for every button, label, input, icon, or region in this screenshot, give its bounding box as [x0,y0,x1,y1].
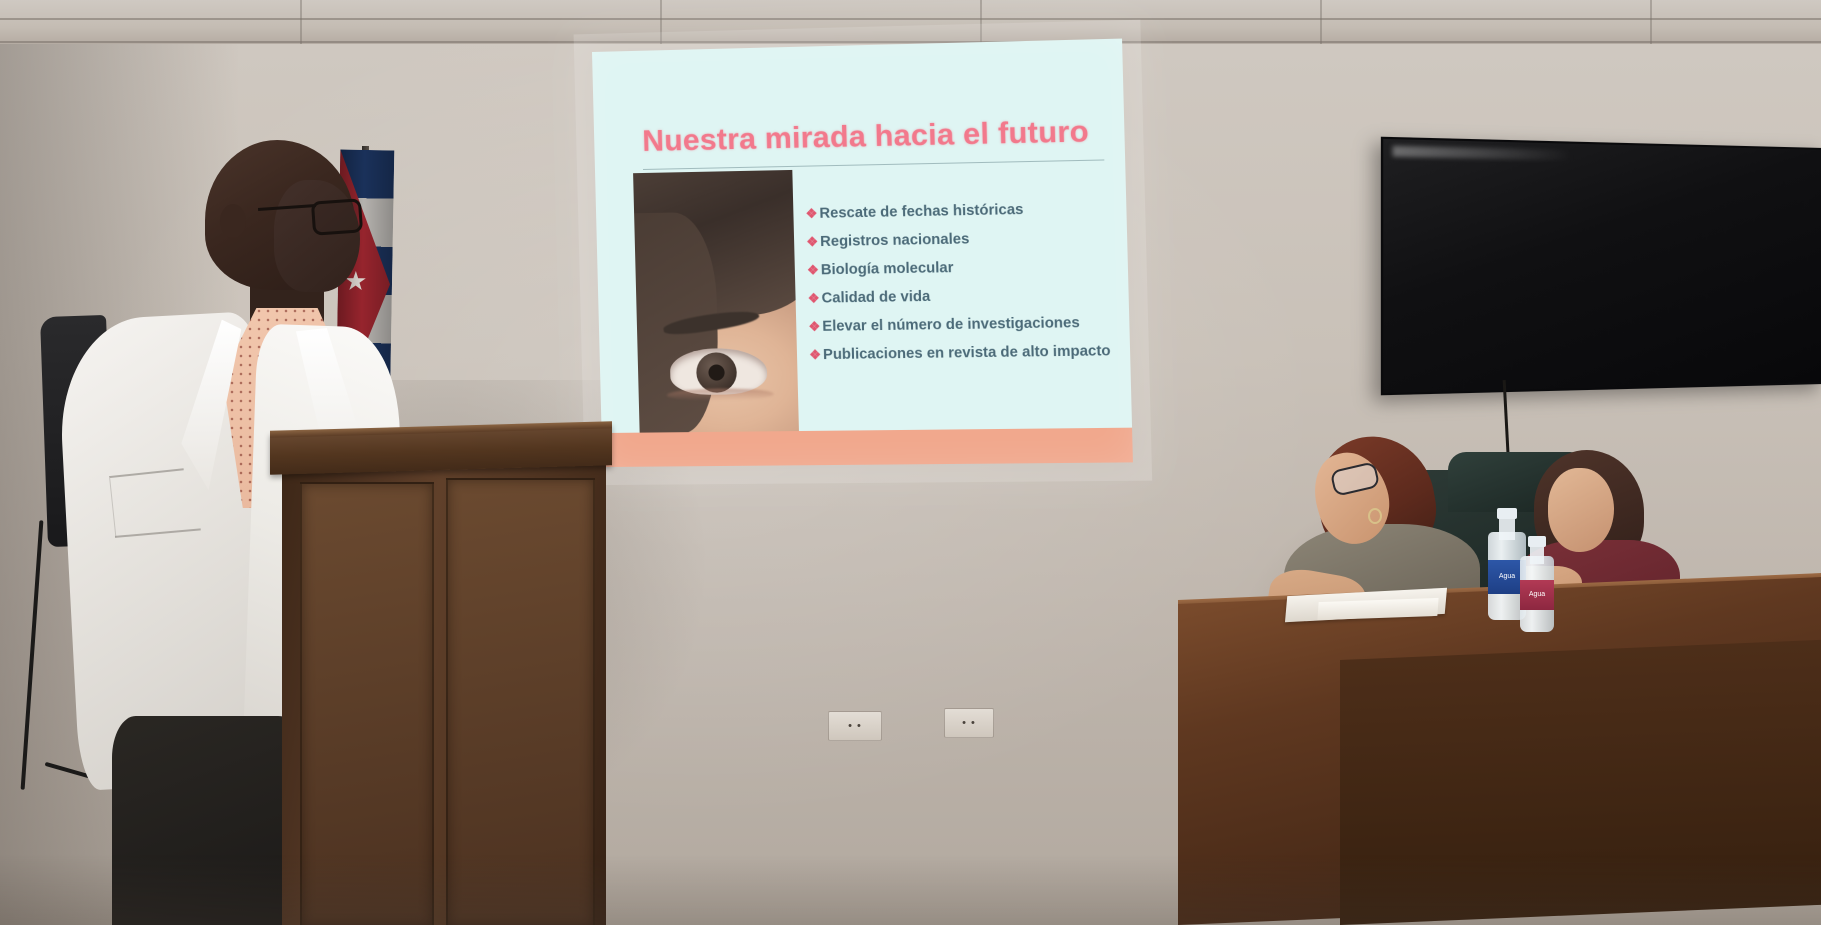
eyeglasses-icon [311,198,363,235]
floor-shadow [0,855,1821,925]
slide-surface: Nuestra mirada hacia el futuro ❖ Rescate… [592,39,1133,467]
speaker-face [274,180,360,292]
wall-outlet[interactable]: • • [944,708,994,738]
list-item: ❖ Calidad de vida [808,286,1117,307]
list-item: ❖ Biología molecular [807,257,1116,278]
list-item: ❖ Rescate de fechas históricas [805,200,1114,222]
water-bottle-neck [1530,544,1544,564]
wall-outlet[interactable]: • • [828,711,882,741]
list-item-label: Rescate de fechas históricas [819,202,1023,222]
list-item-label: Registros nacionales [820,231,970,250]
wall-mounted-tv [1381,137,1821,396]
list-item: ❖ Elevar el número de investigaciones [808,314,1117,335]
ceiling-tile-line [300,0,302,44]
slide-bottom-band [602,428,1133,467]
wall-outlet-slots: • • [945,709,993,737]
ceiling-seam [0,18,1821,20]
water-bottle: Agua [1520,536,1554,632]
slide-title: Nuestra mirada hacia el futuro [642,115,1102,159]
lab-coat-pocket [115,528,207,609]
list-item: ❖ Publicaciones en revista de alto impac… [809,343,1118,363]
earring [1368,508,1382,524]
ceiling-tile-line [1320,0,1322,44]
list-item-label: Publicaciones en revista de alto impacto [823,343,1111,363]
diamond-bullet-icon: ❖ [809,348,821,361]
tv-screen-glint [1393,146,1574,161]
projected-slide: Nuestra mirada hacia el futuro ❖ Rescate… [592,39,1133,467]
water-bottle-cap [1497,508,1517,519]
slide-title-divider [643,159,1104,170]
list-item: ❖ Registros nacionales [806,229,1115,251]
ceiling-tile-line [660,0,662,44]
list-item-label: Elevar el número de investigaciones [822,315,1080,335]
ceiling-seam [0,41,1821,43]
lab-coat-pocket [109,468,190,538]
eye-pupil [708,364,725,380]
wall-outlet-slots: • • [829,712,881,740]
diamond-bullet-icon: ❖ [808,292,820,305]
ceiling-tile-line [1650,0,1652,44]
ceiling-tile-line [980,0,982,44]
diamond-bullet-icon: ❖ [807,263,819,276]
water-bottle-label: Agua [1520,580,1554,610]
ceiling [0,0,1821,46]
speaker-ear [220,204,246,238]
list-item-label: Calidad de vida [821,289,930,307]
list-item-label: Biología molecular [821,260,954,278]
seated-person-face [1548,468,1614,552]
water-bottle-neck [1499,516,1515,540]
diamond-bullet-icon: ❖ [805,207,817,220]
diamond-bullet-icon: ❖ [806,235,818,248]
slide-bullet-list: ❖ Rescate de fechas históricas ❖ Registr… [805,200,1118,375]
slide-eye-photo [633,170,799,436]
water-bottle-cap [1528,536,1546,547]
diamond-bullet-icon: ❖ [808,320,820,333]
presentation-photo-scene: Nuestra mirada hacia el futuro ❖ Rescate… [0,0,1821,925]
